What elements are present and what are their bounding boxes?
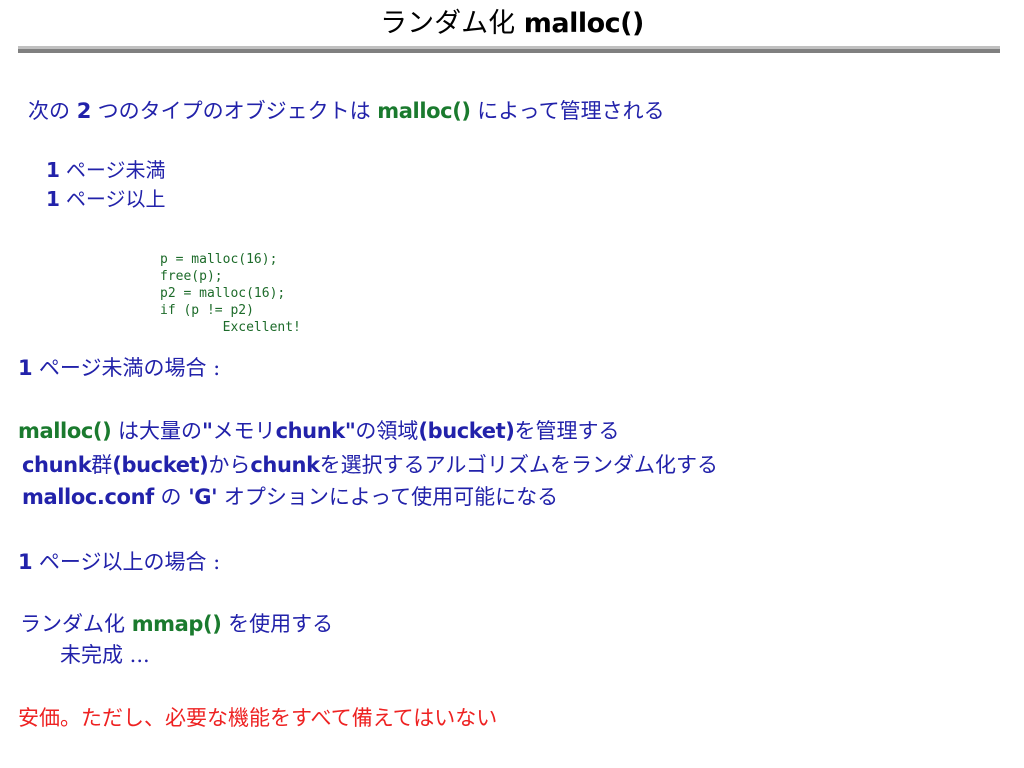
chunk-3-part1: の [154, 485, 188, 509]
page-title-code: malloc() [524, 8, 644, 39]
case-1-label: ページ未満の場合 : [32, 356, 220, 380]
chunk-1-part1: は大量の [111, 419, 202, 443]
chunk-line-3: malloc.conf の 'G' オプションによって使用可能になる [22, 484, 558, 510]
chunk-1-code-malloc: malloc() [18, 419, 111, 443]
case-2-number: 1 [18, 550, 32, 574]
chunk-1-part2: の領域 [355, 419, 418, 443]
case-heading-under-one-page: 1 ページ未満の場合 : [18, 355, 220, 381]
intro-part3: によって管理される [471, 99, 665, 123]
bullet-1-number: 1 [46, 158, 60, 182]
mmap-code-mmap: mmap() [132, 612, 222, 636]
bullet-1-label: ページ未満 [60, 158, 166, 182]
intro-part2: つのタイプのオブジェクトは [91, 99, 377, 123]
chunk-1-part3: を管理する [514, 419, 619, 443]
chunk-1-jp1: メモリ [213, 419, 276, 443]
chunk-3-bold-mallocconf: malloc.conf [22, 485, 154, 509]
chunk-line-1: malloc() は大量の"メモリchunk"の領域(bucket)を管理する [18, 418, 619, 444]
chunk-3-part2: オプションによって使用可能になる [217, 485, 558, 509]
intro-part1: 次の [28, 99, 77, 123]
bullet-item-under-one-page: 1 ページ未満 [46, 158, 166, 183]
chunk-2-part1: 群 [91, 453, 112, 477]
mmap-part2: を使用する [221, 612, 333, 636]
chunk-1-bold-chunk: chunk [276, 419, 345, 443]
case-1-number: 1 [18, 356, 32, 380]
mmap-part1: ランダム化 [20, 612, 132, 636]
chunk-2-bold-chunk-2: chunk [250, 453, 319, 477]
slide-page: { "title": { "jp": "ランダム化 ", "code": "ma… [0, 0, 1024, 768]
mmap-line: ランダム化 mmap() を使用する [20, 611, 333, 637]
bullet-item-over-one-page: 1 ページ以上 [46, 187, 166, 212]
bullet-2-label: ページ以上 [60, 187, 166, 211]
chunk-line-2: chunk群(bucket)からchunkを選択するアルゴリズムをランダム化する [22, 452, 718, 478]
chunk-2-part2: から [208, 453, 250, 477]
title-divider [18, 46, 1000, 53]
chunk-2-bold-chunk-1: chunk [22, 453, 91, 477]
chunk-2-part3: を選択するアルゴリズムをランダム化する [320, 453, 718, 477]
chunk-2-bold-bucket: (bucket) [112, 453, 208, 477]
caveat-note: 安価。ただし、必要な機能をすべて備えてはいない [18, 705, 497, 731]
page-title-jp: ランダム化 [380, 8, 524, 39]
chunk-1-quote-open: " [202, 419, 213, 443]
chunk-1-quote-close: " [345, 419, 356, 443]
case-2-label: ページ以上の場合 : [32, 550, 220, 574]
intro-line: 次の 2 つのタイプのオブジェクトは malloc() によって管理される [28, 98, 665, 124]
page-title: ランダム化 malloc() [0, 8, 1024, 40]
intro-number: 2 [77, 99, 91, 123]
case-heading-over-one-page: 1 ページ以上の場合 : [18, 549, 220, 575]
bullet-2-number: 1 [46, 187, 60, 211]
chunk-1-bold-bucket: (bucket) [418, 419, 514, 443]
todo-line: 未完成 ... [60, 642, 150, 668]
intro-code-malloc: malloc() [377, 99, 470, 123]
chunk-3-bold-option-g: 'G' [188, 485, 217, 509]
code-block: p = malloc(16); free(p); p2 = malloc(16)… [160, 251, 301, 336]
